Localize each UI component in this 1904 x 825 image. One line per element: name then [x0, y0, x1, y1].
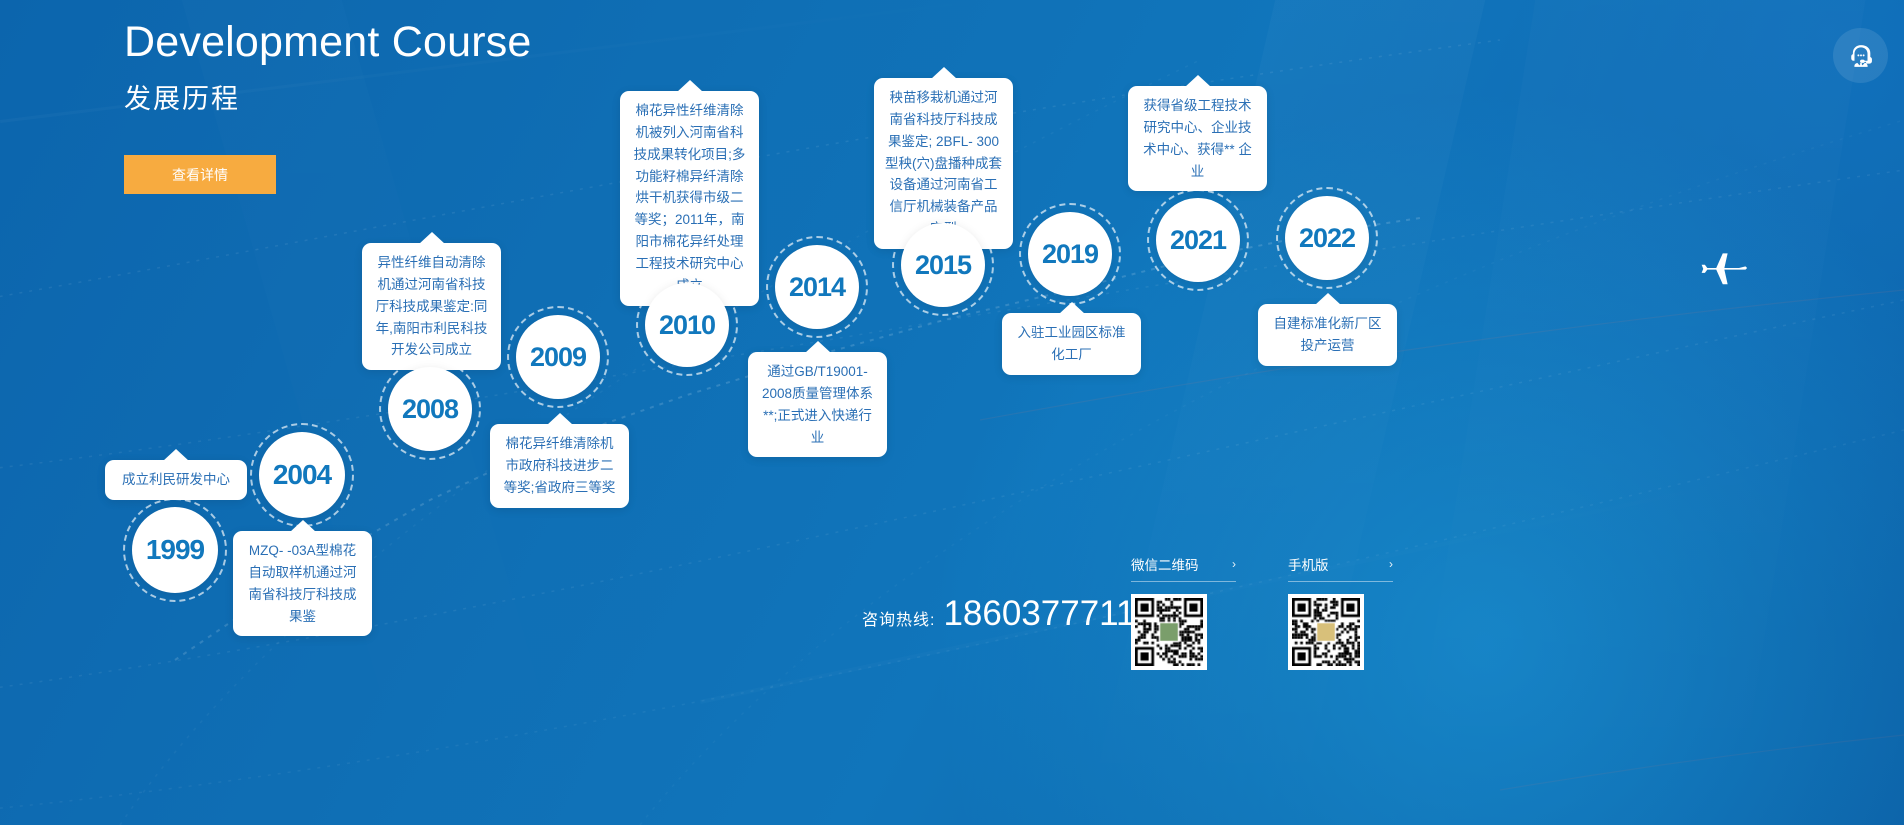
timeline-year-circle-2022[interactable]: 2022	[1285, 196, 1369, 280]
chevron-right-icon: ›	[1389, 557, 1393, 571]
qr-block-mobile: 手机版 ›	[1288, 554, 1393, 670]
timeline-year-circle-2010[interactable]: 2010	[645, 283, 729, 367]
page-header: Development Course 发展历程	[124, 18, 532, 116]
qr-wechat-image[interactable]	[1131, 594, 1207, 670]
qr-wechat-label: 微信二维码	[1131, 554, 1199, 574]
timeline-year-circle-2021[interactable]: 2021	[1156, 198, 1240, 282]
qr-mobile-image[interactable]	[1288, 594, 1364, 670]
timeline-card-2004[interactable]: MZQ- -03A型棉花自动取样机通过河南省科技厅科技成果鉴	[233, 531, 372, 636]
qr-canvas	[1292, 598, 1360, 666]
page-title-cn: 发展历程	[124, 77, 532, 116]
timeline-card-text: MZQ- -03A型棉花自动取样机通过河南省科技厅科技成果鉴	[249, 543, 357, 624]
qr-canvas	[1135, 598, 1203, 666]
timeline-year-label: 2004	[273, 459, 331, 491]
timeline-year-circle-1999[interactable]: 1999	[132, 507, 218, 593]
timeline-card-text: 棉花异纤维清除机市政府科技进步二等奖;省政府三等奖	[504, 436, 616, 495]
timeline-card-text: 异性纤维自动清除机通过河南省科技厅科技成果鉴定:同年,南阳市利民科技开发公司成立	[376, 255, 488, 357]
qr-wechat-header[interactable]: 微信二维码 ›	[1131, 554, 1236, 582]
timeline-year-circle-2019[interactable]: 2019	[1028, 212, 1112, 296]
view-details-button[interactable]: 查看详情	[124, 155, 276, 194]
timeline-card-text: 成立利民研发中心	[122, 472, 230, 487]
timeline-card-1999[interactable]: 成立利民研发中心	[105, 460, 247, 500]
qr-block-wechat: 微信二维码 ›	[1131, 554, 1236, 670]
timeline-card-text: 棉花异性纤维清除机被列入河南省科技成果转化项目;多功能籽棉异纤清除烘干机获得市级…	[634, 103, 746, 293]
development-course-section: Development Course 发展历程 查看详情 成立利民研发中心 19…	[0, 0, 1904, 825]
timeline-year-circle-2015[interactable]: 2015	[901, 223, 985, 307]
timeline-year-circle-2008[interactable]: 2008	[388, 367, 472, 451]
timeline-card-2009[interactable]: 棉花异纤维清除机市政府科技进步二等奖;省政府三等奖	[490, 424, 629, 508]
timeline-card-text: 通过GB/T19001-2008质量管理体系**;正式进入快递行业	[762, 364, 873, 445]
qr-mobile-header[interactable]: 手机版 ›	[1288, 554, 1393, 582]
hotline-number: 18603777118	[943, 594, 1155, 634]
timeline-card-2022[interactable]: 自建标准化新厂区投产运营	[1258, 304, 1397, 366]
hotline: 咨询热线: 18603777118	[862, 594, 1155, 634]
timeline-year-circle-2014[interactable]: 2014	[775, 245, 859, 329]
timeline-card-2014[interactable]: 通过GB/T19001-2008质量管理体系**;正式进入快递行业	[748, 352, 887, 457]
timeline-card-text: 获得省级工程技术研究中心、企业技术中心、获得** 企业	[1143, 98, 1252, 179]
timeline-year-label: 2021	[1170, 225, 1226, 256]
timeline-card-2019[interactable]: 入驻工业园区标准化工厂	[1002, 313, 1141, 375]
timeline-year-label: 2015	[915, 250, 971, 281]
airplane-icon	[1700, 248, 1752, 288]
chevron-right-icon: ›	[1232, 557, 1236, 571]
timeline-year-circle-2009[interactable]: 2009	[516, 315, 600, 399]
timeline-year-label: 2019	[1042, 239, 1098, 270]
timeline-card-text: 入驻工业园区标准化工厂	[1018, 325, 1126, 362]
timeline-card-2021[interactable]: 获得省级工程技术研究中心、企业技术中心、获得** 企业	[1128, 86, 1267, 191]
timeline-year-label: 2009	[530, 342, 586, 373]
timeline-year-label: 2014	[789, 272, 845, 303]
timeline-card-2008[interactable]: 异性纤维自动清除机通过河南省科技厅科技成果鉴定:同年,南阳市利民科技开发公司成立	[362, 243, 501, 370]
customer-service-button[interactable]	[1833, 28, 1888, 83]
headset-customer-service-icon	[1848, 43, 1874, 69]
page-title-en: Development Course	[124, 18, 532, 67]
timeline-year-label: 1999	[146, 534, 204, 566]
timeline-year-circle-2004[interactable]: 2004	[259, 432, 345, 518]
timeline-year-label: 2022	[1299, 223, 1355, 254]
timeline-year-label: 2008	[402, 394, 458, 425]
qr-mobile-label: 手机版	[1288, 554, 1329, 574]
hotline-label: 咨询热线:	[862, 606, 935, 630]
bg-band-2	[1405, 0, 1866, 825]
timeline-card-text: 自建标准化新厂区投产运营	[1274, 316, 1382, 353]
timeline-year-label: 2010	[659, 310, 715, 341]
